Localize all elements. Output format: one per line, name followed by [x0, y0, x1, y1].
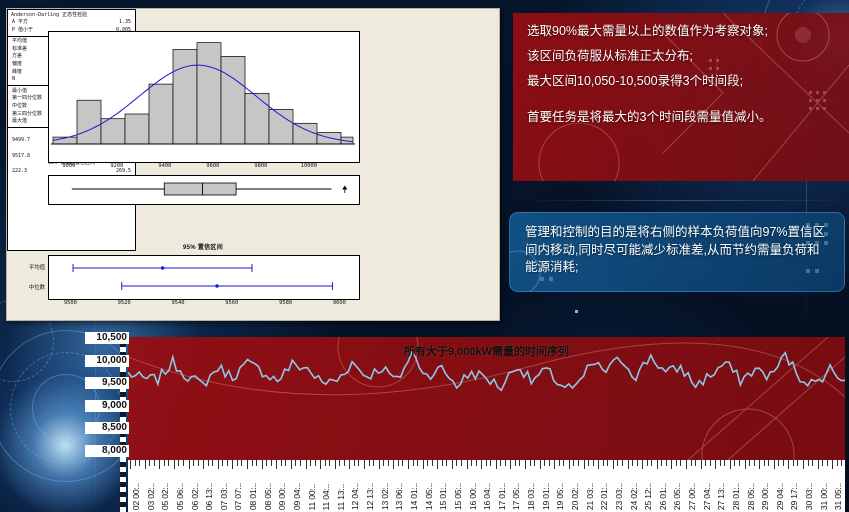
x-axis-tick	[642, 460, 643, 469]
x-axis-tick	[569, 460, 570, 469]
timeseries-y-label: 9,000	[85, 400, 129, 412]
x-axis-tick	[808, 460, 809, 466]
x-axis-label: 14 05:..	[424, 483, 434, 510]
x-axis-tick	[174, 460, 175, 469]
stat-moment-label: 方差	[12, 53, 22, 61]
x-axis-tick	[310, 460, 311, 466]
x-axis-tick	[130, 460, 131, 469]
x-axis-tick	[476, 460, 477, 466]
x-axis-tick	[295, 460, 296, 466]
x-axis-tick	[724, 460, 725, 466]
ci-chart-svg	[49, 256, 357, 297]
x-axis-tick	[768, 460, 769, 466]
x-axis-label: 02 00:..	[131, 483, 141, 510]
x-axis-tick	[613, 460, 614, 469]
x-axis-tick	[452, 460, 453, 469]
x-axis-tick	[505, 460, 506, 466]
x-axis-tick	[544, 460, 545, 466]
histogram-tick: 9800	[254, 163, 267, 169]
x-axis-tick	[325, 460, 326, 466]
x-axis-tick	[432, 460, 433, 466]
x-axis-tick	[666, 460, 667, 466]
x-axis-label: 19 01:..	[541, 483, 551, 510]
x-axis-label: 17 01:..	[497, 483, 507, 510]
x-axis-tick	[193, 460, 194, 466]
x-axis-label: 06 13:..	[204, 483, 214, 510]
x-axis-label: 22 01:..	[599, 483, 609, 510]
x-axis-label: 29 00:..	[760, 483, 770, 510]
x-axis-tick	[657, 460, 658, 469]
x-axis-tick	[358, 460, 359, 466]
x-axis-tick	[774, 460, 775, 469]
x-axis-label: 03 02:..	[146, 483, 156, 510]
x-axis-tick	[519, 460, 520, 466]
ci-tick: 9540	[171, 300, 184, 306]
x-axis-tick	[603, 460, 604, 466]
x-axis-tick	[710, 460, 711, 466]
x-axis-label: 19 05:..	[555, 483, 565, 510]
x-axis-tick	[198, 460, 199, 466]
x-axis-tick	[793, 460, 794, 466]
x-axis-tick	[379, 460, 380, 469]
x-axis-label: 26 01:..	[658, 483, 668, 510]
x-axis-tick	[461, 460, 462, 466]
x-axis-label: 08 01:..	[248, 483, 258, 510]
x-axis-tick	[739, 460, 740, 466]
timeseries-y-label: 10,500	[85, 332, 129, 344]
blue-note-panel: 管理和控制的目的是将右侧的样本负荷值向97%置信区间内移动,同时尽可能减少标准差…	[509, 212, 845, 292]
x-axis-tick	[632, 460, 633, 466]
x-axis-tick	[749, 460, 750, 466]
x-axis-tick	[408, 460, 409, 469]
x-axis-label: 24 02:..	[629, 483, 639, 510]
x-axis-tick	[237, 460, 238, 466]
x-axis-tick	[442, 460, 443, 466]
x-axis-tick	[168, 460, 169, 466]
stat-quantile-label: 最大值	[12, 118, 27, 126]
x-axis-tick	[218, 460, 219, 469]
x-axis-tick	[306, 460, 307, 469]
x-axis-tick	[369, 460, 370, 466]
x-axis-tick	[734, 460, 735, 466]
stat-quantile-label: 中位数	[12, 103, 27, 111]
histogram-tick: 9000	[62, 163, 75, 169]
x-axis-label: 15 01:..	[438, 483, 448, 510]
red-panel-decoration	[513, 13, 849, 181]
x-axis-tick	[486, 460, 487, 466]
blue-panel-decoration	[510, 213, 844, 291]
x-axis-tick	[354, 460, 355, 466]
x-axis-tick	[212, 460, 213, 466]
x-axis-tick	[135, 460, 136, 466]
x-axis-tick	[812, 460, 813, 466]
x-axis-tick	[554, 460, 555, 469]
x-axis-tick	[481, 460, 482, 469]
x-axis-label: 30 03:..	[804, 483, 814, 510]
x-axis-tick	[680, 460, 681, 466]
x-axis-tick	[456, 460, 457, 466]
x-axis-tick	[647, 460, 648, 466]
x-axis-tick	[651, 460, 652, 466]
x-axis-label: 09 00:..	[277, 483, 287, 510]
x-axis-tick	[578, 460, 579, 466]
red-note-line: 选取90%最大需量以上的数值作为考察对象;	[513, 24, 849, 38]
x-axis-tick	[164, 460, 165, 466]
x-axis-tick	[256, 460, 257, 466]
stat-moment-label: 平均值	[12, 38, 27, 46]
x-axis-label: 11 04:..	[321, 484, 331, 510]
x-axis-tick	[349, 460, 350, 469]
x-axis-tick	[588, 460, 589, 466]
x-axis-tick	[398, 460, 399, 466]
x-axis-label: 18 03:..	[526, 483, 536, 510]
stat-ci-low: 222.3	[12, 168, 27, 176]
x-axis-tick	[149, 460, 150, 466]
x-axis-tick	[832, 460, 833, 469]
ci-intervals	[73, 264, 332, 290]
x-axis-tick	[617, 460, 618, 466]
x-axis-label: 25 12:..	[643, 483, 653, 510]
x-axis-label: 05 06:..	[175, 483, 185, 510]
stats-test-title: Anderson-Darling 正态性检验	[8, 10, 135, 19]
x-axis-label: 16 00:..	[468, 483, 478, 510]
x-axis-tick	[285, 460, 286, 466]
ci-tick: 9560	[225, 300, 238, 306]
x-axis-tick	[281, 460, 282, 466]
red-notes-panel: 选取90%最大需量以上的数值作为考察对象;该区间负荷服从标准正太分布;最大区间1…	[513, 13, 849, 181]
x-axis-label: 13 02:..	[380, 483, 390, 510]
x-axis-tick	[139, 460, 140, 466]
x-axis-tick	[759, 460, 760, 469]
x-axis-tick	[227, 460, 228, 466]
x-axis-tick	[671, 460, 672, 469]
x-axis-tick	[525, 460, 526, 469]
x-axis-label: 29 17:..	[789, 483, 799, 510]
x-axis-label: 31 05:..	[833, 483, 843, 510]
x-axis-tick	[715, 460, 716, 469]
x-axis-tick	[427, 460, 428, 466]
x-axis-tick	[500, 460, 501, 466]
red-note-line: 该区间负荷服从标准正太分布;	[513, 49, 849, 63]
x-axis-tick	[788, 460, 789, 469]
x-axis-tick	[241, 460, 242, 466]
x-axis-tick	[315, 460, 316, 466]
timeseries-y-label: 8,500	[85, 422, 129, 434]
x-axis-tick	[266, 460, 267, 466]
x-axis-tick	[637, 460, 638, 466]
x-axis-tick	[490, 460, 491, 466]
x-axis-tick	[446, 460, 447, 466]
x-axis-tick	[515, 460, 516, 466]
x-axis-tick	[822, 460, 823, 466]
x-axis-label: 11 00:..	[307, 484, 317, 510]
timeseries-y-label: 8,000	[85, 445, 129, 457]
x-axis-tick	[622, 460, 623, 466]
stat-quantile-label: 第三四分位数	[12, 111, 42, 119]
boxplot-glyph	[72, 183, 348, 195]
x-axis-tick	[291, 460, 292, 469]
x-axis-tick	[276, 460, 277, 469]
x-axis-tick	[413, 460, 414, 466]
x-axis-tick	[695, 460, 696, 466]
stat-test-value: 1.35	[119, 19, 131, 27]
x-axis-label: 31 00:..	[819, 483, 829, 510]
x-axis-tick	[530, 460, 531, 466]
stat-moment-label: 偏度	[12, 61, 22, 69]
x-axis-tick	[344, 460, 345, 466]
histogram-tick: 9400	[158, 163, 171, 169]
ci-tick: 9580	[279, 300, 292, 306]
x-axis-label: 20 02:..	[570, 483, 580, 510]
x-axis-tick	[189, 460, 190, 469]
x-axis-tick	[271, 460, 272, 466]
red-note-line: 最大区间10,050-10,500录得3个时间段;	[513, 74, 849, 88]
x-axis-label: 09 04:..	[292, 483, 302, 510]
x-axis-tick	[145, 460, 146, 469]
x-axis-tick	[183, 460, 184, 466]
x-axis-tick	[402, 460, 403, 466]
x-axis-label: 27 00:..	[687, 483, 697, 510]
ci-chart-title: 95% 置信区间	[48, 242, 358, 251]
x-axis-label: 21 03:..	[585, 483, 595, 510]
x-axis-label: 28 05:..	[746, 483, 756, 510]
x-axis-tick	[803, 460, 804, 469]
histogram-tick: 9600	[206, 163, 219, 169]
x-axis-label: 27 04:..	[702, 483, 712, 510]
x-axis-tick	[393, 460, 394, 469]
x-axis-label: 06 02:..	[190, 483, 200, 510]
x-axis-tick	[373, 460, 374, 466]
x-axis-tick	[691, 460, 692, 466]
x-axis-tick	[549, 460, 550, 466]
x-axis-tick	[417, 460, 418, 466]
stat-ci-low: 9499.7	[12, 137, 30, 145]
x-axis-tick	[159, 460, 160, 469]
x-axis-tick	[247, 460, 248, 469]
x-axis-tick	[783, 460, 784, 466]
x-axis-tick	[573, 460, 574, 466]
x-axis-tick	[262, 460, 263, 469]
timeseries-y-label: 9,500	[85, 377, 129, 389]
timeseries-x-axis: 02 00:..03 02:..05 02:..05 06:..06 02:..…	[128, 460, 845, 512]
x-axis-tick	[827, 460, 828, 466]
ci-row-label-mean: 平均值	[7, 263, 45, 271]
x-axis-tick	[730, 460, 731, 469]
boxplot-svg	[49, 176, 357, 202]
x-axis-tick	[841, 460, 842, 466]
x-axis-label: 27 13:..	[716, 483, 726, 510]
x-axis-label: 12 04:..	[350, 483, 360, 510]
x-axis-tick	[320, 460, 321, 469]
histogram-bars	[53, 43, 353, 144]
stat-quantile-label: 第一四分位数	[12, 95, 42, 103]
x-axis-tick	[837, 460, 838, 466]
stat-test-label: P 值小于	[12, 27, 33, 35]
x-axis-tick	[222, 460, 223, 466]
x-axis-tick	[720, 460, 721, 466]
x-axis-tick	[778, 460, 779, 466]
ci-row-label-median: 中位数	[7, 283, 45, 291]
x-axis-label: 12 13:..	[365, 483, 375, 510]
timeseries-y-label: 10,000	[85, 355, 129, 367]
x-axis-tick	[745, 460, 746, 469]
x-axis-label: 07 03:..	[219, 483, 229, 510]
x-axis-label: 14 01:..	[409, 483, 419, 510]
x-axis-label: 16 04:..	[482, 483, 492, 510]
x-axis-tick	[563, 460, 564, 466]
ci-tick: 9520	[118, 300, 131, 306]
histogram-tick: 9200	[110, 163, 123, 169]
x-axis-tick	[598, 460, 599, 469]
x-axis-label: 13 06:..	[394, 483, 404, 510]
x-axis-tick	[471, 460, 472, 466]
x-axis-tick	[534, 460, 535, 466]
x-axis-tick	[423, 460, 424, 469]
stat-ci-low: 9517.8	[12, 153, 30, 161]
x-axis-label: 11 13:..	[336, 484, 346, 510]
x-axis-tick	[676, 460, 677, 466]
beam-2	[520, 200, 849, 201]
x-axis-tick	[364, 460, 365, 469]
stat-moment-label: 峰度	[12, 69, 22, 77]
x-axis-tick	[701, 460, 702, 469]
x-axis-tick	[383, 460, 384, 466]
x-axis-tick	[705, 460, 706, 466]
minitab-graphical-summary-card: 9000920094009600980010000 95% 置信区间 平均值 中…	[6, 8, 500, 321]
x-axis-tick	[584, 460, 585, 469]
x-axis-tick	[388, 460, 389, 466]
x-axis-tick	[754, 460, 755, 466]
stat-test-row: A 平方1.35	[8, 19, 135, 27]
histogram-svg	[49, 32, 357, 160]
x-axis-tick	[178, 460, 179, 466]
x-axis-label: 05 02:..	[160, 483, 170, 510]
x-axis-label: 29 04:..	[775, 483, 785, 510]
x-axis-label: 26 05:..	[672, 483, 682, 510]
red-note-line: 首要任务是将最大的3个时间段需量值减小。	[513, 110, 849, 124]
x-axis-tick	[510, 460, 511, 469]
ci-tick: 9600	[333, 300, 346, 306]
x-axis-tick	[496, 460, 497, 469]
histogram-panel	[48, 31, 360, 163]
x-axis-tick	[661, 460, 662, 466]
ci-chart-panel	[48, 255, 360, 300]
x-axis-label: 08 05:..	[263, 483, 273, 510]
x-axis-label: 15 05:..	[453, 483, 463, 510]
x-axis-tick	[329, 460, 330, 466]
x-axis-tick	[232, 460, 233, 469]
boxplot-panel	[48, 175, 360, 205]
x-axis-tick	[559, 460, 560, 466]
x-axis-tick	[437, 460, 438, 469]
x-axis-tick	[764, 460, 765, 466]
x-axis-tick	[300, 460, 301, 466]
x-axis-label: 17 05:..	[511, 483, 521, 510]
x-axis-tick	[339, 460, 340, 466]
x-axis-tick	[203, 460, 204, 469]
stat-test-label: A 平方	[12, 19, 28, 27]
x-axis-tick	[540, 460, 541, 469]
x-axis-tick	[818, 460, 819, 469]
stat-moment-label: N	[12, 76, 15, 84]
x-axis-tick	[467, 460, 468, 469]
x-axis-tick	[797, 460, 798, 466]
x-axis-tick	[335, 460, 336, 469]
x-axis-label: 28 01:..	[731, 483, 741, 510]
x-axis-tick	[607, 460, 608, 466]
histogram-tick: 10000	[301, 163, 317, 169]
x-axis-tick	[252, 460, 253, 466]
timeseries-title: 所有大于9,000kW需量的时间序列	[128, 343, 845, 359]
ci-tick: 9500	[64, 300, 77, 306]
x-axis-label: 07 07:..	[233, 483, 243, 510]
x-axis-tick	[686, 460, 687, 469]
x-axis-tick	[208, 460, 209, 466]
x-axis-tick	[628, 460, 629, 469]
x-axis-tick	[593, 460, 594, 466]
x-axis-label: 23 03:..	[614, 483, 624, 510]
x-axis-tick	[154, 460, 155, 466]
